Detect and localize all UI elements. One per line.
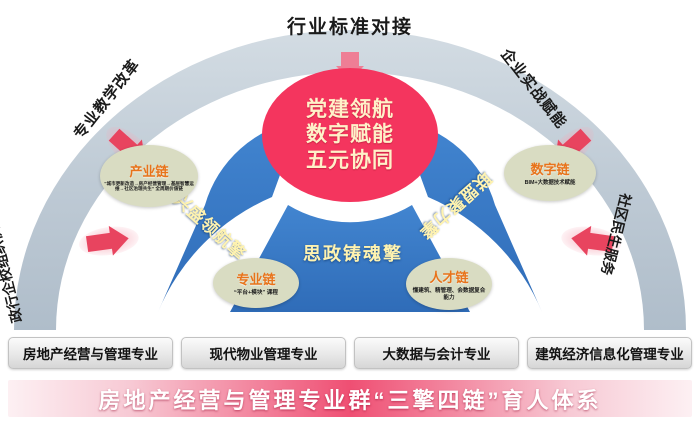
- major-box[interactable]: 现代物业管理专业: [181, 337, 346, 369]
- chain-desc-digital: BIM+大数据技术赋能: [521, 180, 580, 186]
- banner-title: 房地产经营与管理专业群“三擎四链”育人体系: [98, 383, 601, 415]
- chain-title-digital: 数字链: [530, 159, 569, 178]
- chain-desc-industry: “城市更新改造→房产经营管理→基层智慧运维→社区治理共生” 全周期价值链: [100, 181, 198, 192]
- arrow-bottom-left-icon: [77, 222, 141, 260]
- chain-node-digital[interactable]: 数字链 BIM+大数据技术赋能: [504, 145, 596, 201]
- center-line-3: 五元协同: [306, 148, 394, 174]
- bottom-banner: 房地产经营与管理专业群“三擎四链”育人体系: [8, 380, 692, 417]
- chain-title-industry: 产业链: [129, 161, 168, 180]
- center-core[interactable]: 党建领航 数字赋能 五元协同: [262, 68, 438, 202]
- chain-node-major[interactable]: 专业链 “平台+模块” 课程: [213, 258, 299, 308]
- major-box[interactable]: 大数据与会计专业: [354, 337, 519, 369]
- engine-label-center: 思政铸魂擎: [303, 240, 403, 266]
- ring-label-top: 行业标准对接: [287, 12, 413, 39]
- diagram-page: 党建领航 数字赋能 五元协同 兴盛领航擎 思政铸魂擎 联盟聚力擎 产业链 “城市…: [0, 0, 700, 423]
- center-line-2: 数字赋能: [306, 122, 394, 148]
- chain-desc-major: “平台+模块” 课程: [230, 290, 282, 296]
- chain-desc-talent: 懂建筑、精管理、会数据复合能力: [406, 288, 492, 301]
- chain-node-talent[interactable]: 人才链 懂建筑、精管理、会数据复合能力: [406, 258, 492, 310]
- chain-title-talent: 人才链: [429, 267, 468, 286]
- major-list: 房地产经营与管理专业 现代物业管理专业 大数据与会计专业 建筑经济信息化管理专业: [0, 334, 700, 372]
- chain-node-industry[interactable]: 产业链 “城市更新改造→房产经营管理→基层智慧运维→社区治理共生” 全周期价值链: [100, 145, 198, 207]
- chain-title-major: 专业链: [236, 269, 275, 288]
- major-box[interactable]: 建筑经济信息化管理专业: [527, 337, 692, 369]
- diagram-canvas: 党建领航 数字赋能 五元协同 兴盛领航擎 思政铸魂擎 联盟聚力擎 产业链 “城市…: [0, 0, 700, 335]
- major-box[interactable]: 房地产经营与管理专业: [8, 337, 173, 369]
- center-line-1: 党建领航: [306, 97, 394, 123]
